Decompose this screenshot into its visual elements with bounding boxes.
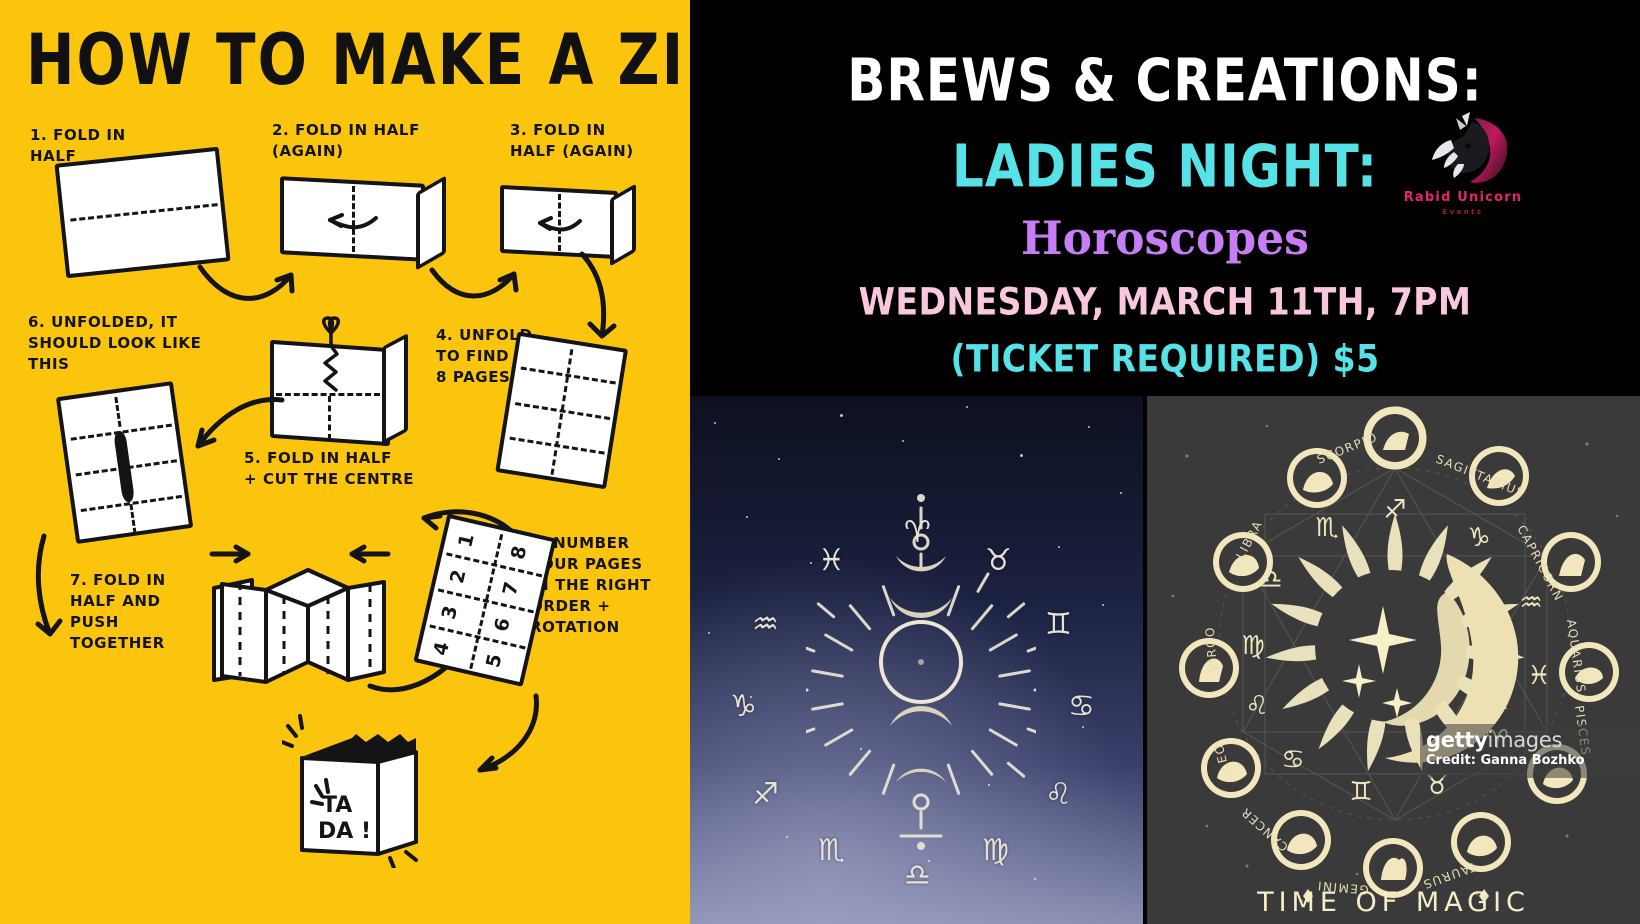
svg-text:DA !: DA ! xyxy=(318,819,371,844)
zodiac-symbol-cancer: ♋ xyxy=(1068,692,1095,722)
zine-step-7-label: 7. FOLD INHALF ANDPUSHTOGETHER xyxy=(70,570,166,654)
wheel-glyph-gemini: ♊ xyxy=(1349,777,1372,807)
poster-title-line-1: Brews & Creations: xyxy=(690,46,1640,114)
wheel-glyph-pisces: ♓ xyxy=(1527,661,1550,691)
night-sky-zodiac-image: ♈ ♉ ♊ ♋ ♌ ♍ ♎ ♏ ♐ ♑ ♒ ♓ xyxy=(690,396,1143,924)
wheel-glyph-aquarius: ♒ xyxy=(1519,588,1542,618)
zine-paper-step-4 xyxy=(494,332,636,499)
wheel-glyph-virgo: ♍ xyxy=(1241,631,1264,661)
zodiac-wheel-graphic: ♐ ♑ ♒ ♓ ♈ ♉ ♊ ♋ ♌ ♍ ♎ ♏ xyxy=(1147,396,1640,924)
zine-step-5-label: 5. FOLD IN HALF+ CUT THE CENTRE xyxy=(244,448,414,490)
logo-wordmark: Rabid Unicorn xyxy=(1388,190,1538,205)
zine-paper-step-5 xyxy=(270,338,430,448)
zodiac-symbol-capricorn: ♑ xyxy=(730,692,757,722)
svg-text:TA: TA xyxy=(322,793,352,818)
zine-title: How To Make A Zine xyxy=(26,18,666,101)
moon-phase-sunburst-emblem xyxy=(806,494,1036,854)
time-of-magic-zodiac-image: ♐ ♑ ♒ ♓ ♈ ♉ ♊ ♋ ♌ ♍ ♎ ♏ xyxy=(1147,396,1640,924)
zine-finished-zine: TA DA ! xyxy=(282,708,462,868)
zine-step-2-label: 2. FOLD IN HALF(AGAIN) xyxy=(272,120,420,162)
wheel-glyph-leo: ♌ xyxy=(1245,691,1268,721)
wheel-medallion-pisces xyxy=(1559,642,1619,702)
zodiac-symbol-gemini: ♊ xyxy=(1045,610,1072,640)
getty-logo: gettyimages xyxy=(1426,728,1634,752)
getty-credit: Credit: Ganna Bozhko xyxy=(1426,753,1634,768)
zine-paper-step-2 xyxy=(280,180,455,260)
poster-price-line: (Ticket Required) $5 xyxy=(690,337,1640,381)
poster-collage: How To Make A Zine 1. FOLD INHALF 2. FOL… xyxy=(0,0,1640,924)
event-poster-panel: Brews & Creations: Ladies Night: Horosco… xyxy=(690,0,1640,924)
zine-page-numbers: 1 8 2 7 3 6 4 5 xyxy=(416,518,559,691)
wheel-medallion-taurus xyxy=(1451,812,1511,872)
unicorn-icon xyxy=(1418,110,1514,188)
zodiac-symbol-libra: ♎ xyxy=(904,861,931,891)
zodiac-symbol-sagittarius: ♐ xyxy=(752,780,779,810)
getty-watermark: gettyimages Credit: Ganna Bozhko xyxy=(1420,724,1640,778)
wheel-glyph-cancer: ♋ xyxy=(1281,745,1304,775)
zodiac-symbol-leo: ♌ xyxy=(1045,780,1072,810)
zine-paper-step-3 xyxy=(500,188,650,264)
zine-paper-step-1 xyxy=(54,147,230,279)
wheel-glyph-scorpio: ♏ xyxy=(1315,513,1338,543)
poster-date-line: Wednesday, March 11th, 7pm xyxy=(690,280,1640,324)
wheel-glyph-capricorn: ♑ xyxy=(1467,523,1490,553)
zine-paper-step-7 xyxy=(200,540,400,690)
zine-scissors-icon xyxy=(310,316,354,416)
zine-paper-step-6 xyxy=(56,380,201,551)
time-of-magic-caption: TIME OF MAGIC xyxy=(1147,887,1640,918)
poster-header: Brews & Creations: Ladies Night: Horosco… xyxy=(690,0,1640,396)
wheel-glyph-sagittarius: ♐ xyxy=(1383,495,1406,525)
logo-subtext: Events xyxy=(1388,208,1538,216)
zodiac-symbol-aquarius: ♒ xyxy=(752,610,779,640)
zine-step-3-label: 3. FOLD INHALF (AGAIN) xyxy=(510,120,634,162)
zine-paper-step-8: 1 8 2 7 3 6 4 5 xyxy=(412,514,565,697)
zine-step-6-label: 6. UNFOLDED, ITSHOULD LOOK LIKETHIS xyxy=(28,312,202,375)
zine-arrow-2-to-3 xyxy=(428,258,528,308)
zine-arrow-3-to-4 xyxy=(574,250,624,350)
zine-instructions-panel: How To Make A Zine 1. FOLD INHALF 2. FOL… xyxy=(0,0,690,924)
rabid-unicorn-logo: Rabid Unicorn Events xyxy=(1388,110,1538,226)
zine-arrow-1-to-2 xyxy=(195,255,305,310)
